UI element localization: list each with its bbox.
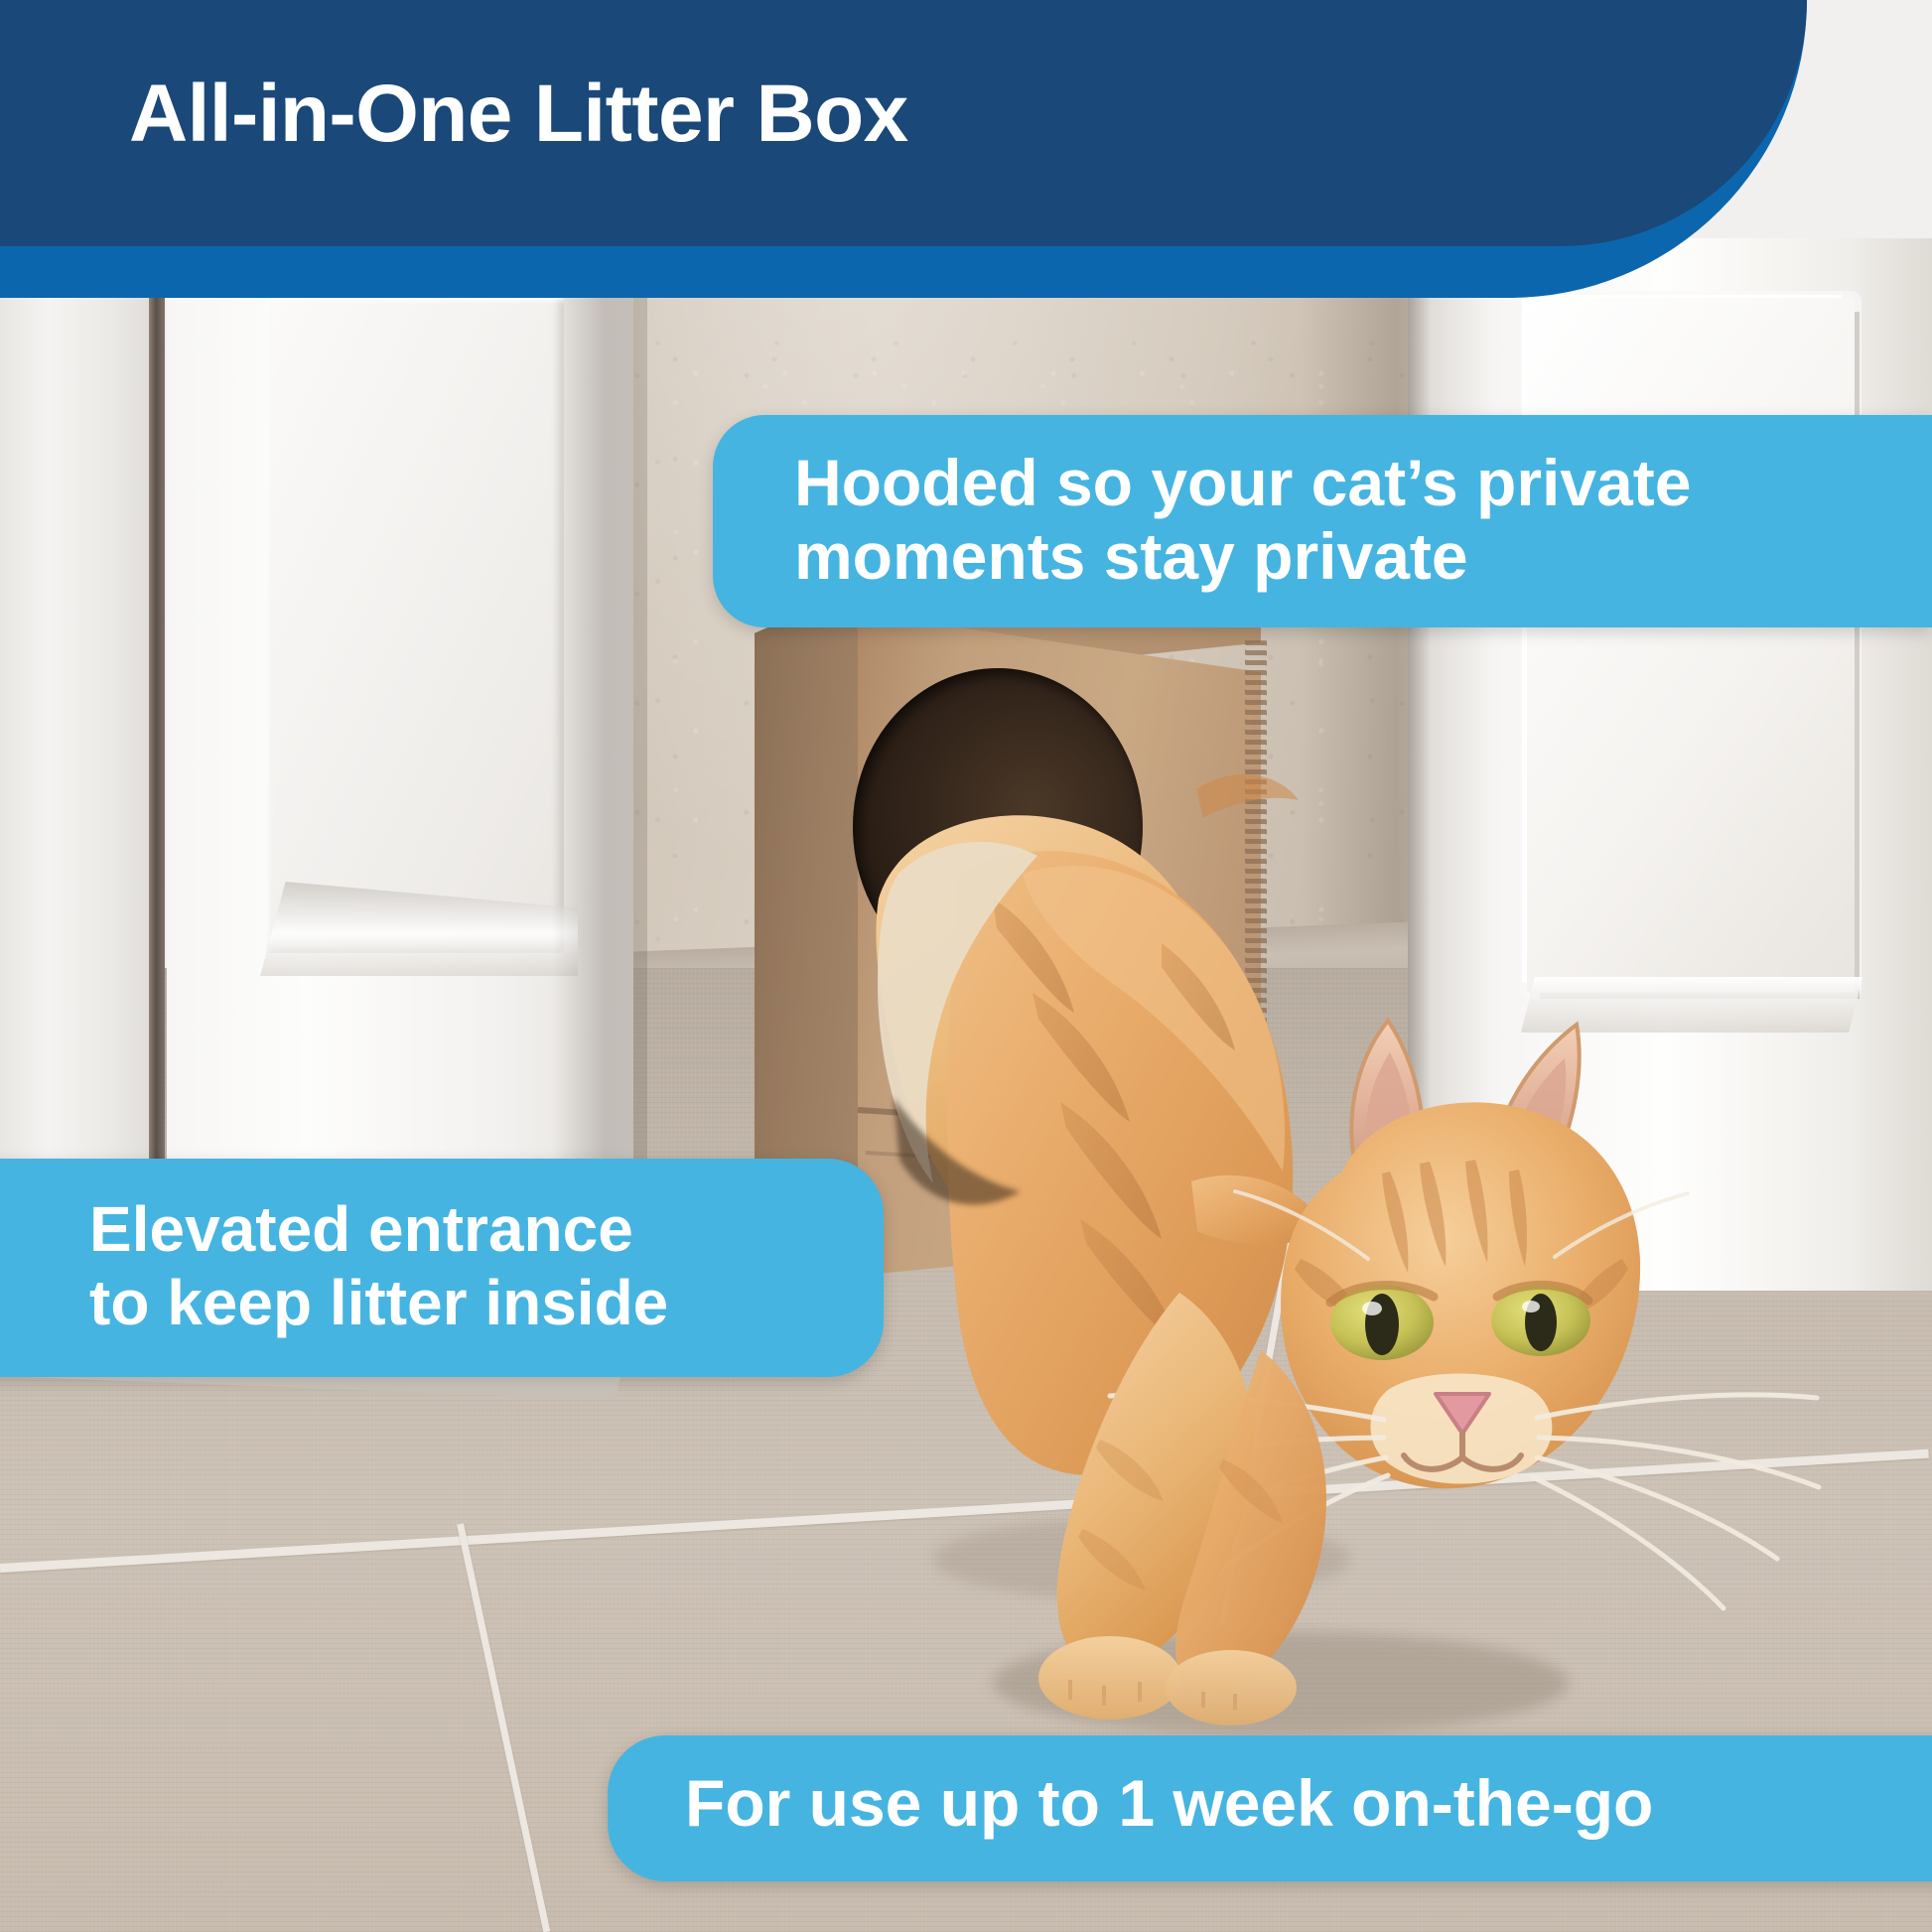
callout-week-on-the-go: For use up to 1 week on-the-go: [608, 1735, 1932, 1881]
callout-hooded-line2: moments stay private: [794, 520, 1912, 594]
callout-elevated-line2: to keep litter inside: [89, 1266, 844, 1339]
product-feature-poster: All-in-One Litter Box Hooded so your cat…: [0, 0, 1932, 1932]
callout-week-line1: For use up to 1 week on-the-go: [685, 1767, 1932, 1840]
callout-hooded: Hooded so your cat’s private moments sta…: [713, 415, 1932, 627]
callout-elevated-line1: Elevated entrance: [89, 1192, 844, 1266]
header-banner: All-in-One Litter Box: [0, 0, 1807, 298]
callout-elevated-entrance: Elevated entrance to keep litter inside: [0, 1159, 884, 1377]
page-title: All-in-One Litter Box: [129, 71, 908, 157]
callout-hooded-line1: Hooded so your cat’s private: [794, 447, 1912, 520]
